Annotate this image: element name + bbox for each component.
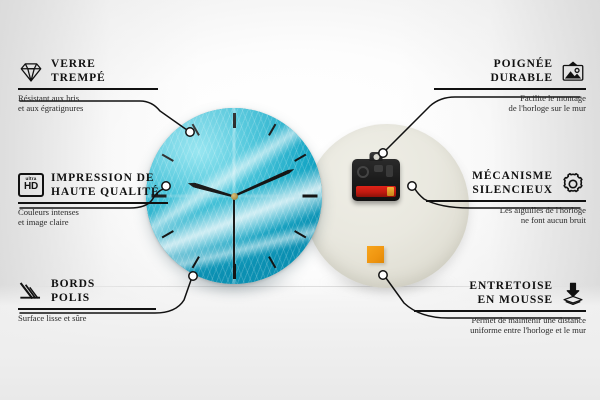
feature-description: Résistant aux bris et aux égratignures — [18, 93, 158, 114]
feature-title: MÉCANISME SILENCIEUX — [472, 170, 553, 197]
battery — [356, 186, 396, 197]
diamond-icon — [18, 59, 44, 85]
hanging-frame-icon — [560, 59, 586, 85]
ultra-hd-icon-main-text: HD — [24, 182, 38, 192]
feature-description: Facilite le montage de l'horloge sur le … — [434, 93, 586, 114]
feature-rule — [18, 308, 156, 310]
movement-dial — [357, 166, 369, 178]
feature-description: Couleurs intenses et image claire — [18, 207, 168, 228]
ultra-hd-icon: ultra HD — [18, 173, 44, 199]
feature-entretoise-en-mousse: ENTRETOISE EN MOUSSE Permet de maintenir… — [414, 280, 586, 336]
infographic-canvas: VERRE TREMPÉ Résistant aux bris et aux é… — [0, 0, 600, 400]
feature-rule — [414, 310, 586, 312]
foam-spacer — [367, 246, 384, 263]
feature-title: IMPRESSION DE HAUTE QUALITÉ — [51, 172, 160, 199]
feature-rule — [434, 88, 586, 90]
feature-bords-polis: BORDS POLIS Surface lisse et sûre — [18, 278, 156, 323]
feature-description: Les aiguilles de l'horloge ne font aucun… — [426, 205, 586, 226]
feature-poignee-durable: POIGNÉE DURABLE Facilite le montage de l… — [434, 58, 586, 114]
clock-front-face — [146, 108, 322, 284]
movement-nub-a — [374, 165, 383, 172]
movement-nub-b — [386, 165, 393, 177]
feature-description: Surface lisse et sûre — [18, 313, 156, 324]
movement-shaft — [370, 152, 383, 161]
quartz-movement — [352, 159, 400, 201]
polished-edges-icon — [18, 279, 44, 305]
gear-icon — [560, 171, 586, 197]
arrow-onto-layers-icon — [560, 281, 586, 307]
feature-description: Permet de maintenir une distance uniform… — [414, 315, 586, 336]
feature-rule — [18, 88, 158, 90]
feature-title: BORDS POLIS — [51, 278, 95, 305]
feature-title: ENTRETOISE EN MOUSSE — [469, 280, 553, 307]
feature-impression-haute-qualite: ultra HD IMPRESSION DE HAUTE QUALITÉ Cou… — [18, 172, 168, 228]
feature-verre-trempe: VERRE TREMPÉ Résistant aux bris et aux é… — [18, 58, 158, 114]
feature-rule — [18, 202, 168, 204]
glass-reflection — [146, 108, 322, 284]
feature-title: VERRE TREMPÉ — [51, 58, 106, 85]
feature-title: POIGNÉE DURABLE — [490, 58, 553, 85]
feature-rule — [426, 200, 586, 202]
feature-mecanisme-silencieux: MÉCANISME SILENCIEUX Les aiguilles de l'… — [426, 170, 586, 226]
